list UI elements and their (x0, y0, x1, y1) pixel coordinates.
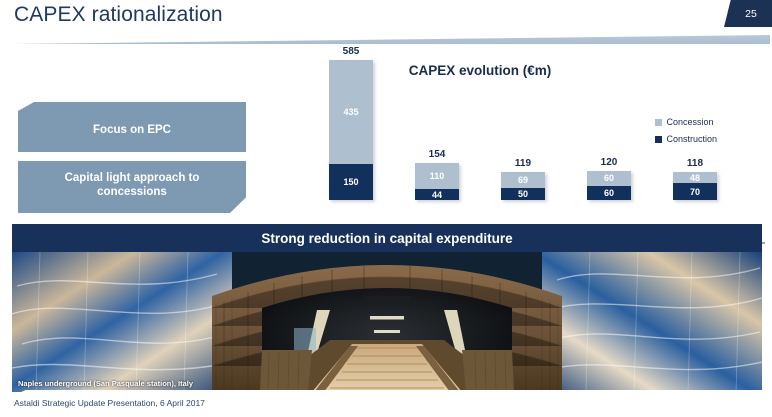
bar-total-label: 120 (601, 157, 618, 168)
bar-group: 585435150 (323, 46, 379, 200)
slide-header: CAPEX rationalization 25 (0, 0, 772, 38)
bar-group: 1196950 (495, 158, 551, 200)
bar-total-label: 154 (429, 149, 446, 160)
bar-group: 1206060 (581, 157, 637, 200)
bar-stack: 6950 (501, 172, 545, 200)
capex-evolution-chart: CAPEX evolution (€m) Concession Construc… (255, 58, 765, 220)
page-title: CAPEX rationalization (14, 3, 223, 27)
bar-stack: 6060 (587, 171, 631, 200)
photo-caption: Naples underground (San Pasquale station… (18, 379, 193, 388)
page-number-badge: 25 (724, 0, 772, 27)
bar-segment-concession: 110 (415, 163, 459, 189)
bar-total-label: 119 (515, 158, 531, 169)
bar-segment-construction: 60 (587, 186, 631, 200)
highlight-banner: Strong reduction in capital expenditure (12, 224, 762, 252)
footer-text: Astaldi Strategic Update Presentation, 6… (14, 398, 205, 408)
bar-stack: 435150 (329, 60, 373, 200)
station-photo-illustration (12, 252, 762, 392)
bar-segment-construction: 70 (673, 183, 717, 200)
bar-stack: 4870 (673, 172, 717, 200)
bar-segment-concession: 69 (501, 172, 545, 189)
bar-segment-construction: 150 (329, 164, 373, 200)
bar-segment-concession: 435 (329, 60, 373, 164)
bar-total-label: 585 (343, 46, 360, 57)
bar-segment-concession: 60 (587, 171, 631, 185)
bar-group: 1184870 (667, 158, 723, 200)
bar-segment-construction: 44 (415, 189, 459, 200)
bar-stack: 11044 (415, 163, 459, 200)
bar-segment-concession: 48 (673, 172, 717, 183)
bar-segment-construction: 50 (501, 188, 545, 200)
bar-total-label: 118 (687, 158, 703, 169)
bar-group: 15411044 (409, 149, 465, 200)
station-photo: Naples underground (San Pasquale station… (12, 252, 762, 392)
callout-capital-light-approach: Capital light approach to concessions (18, 161, 246, 213)
callout-focus-on-epc: Focus on EPC (18, 102, 246, 152)
slide: CAPEX rationalization 25 Focus on EPC Ca… (0, 0, 772, 417)
chart-plot-area: 58543515015411044119695012060601184870 2… (293, 100, 713, 200)
